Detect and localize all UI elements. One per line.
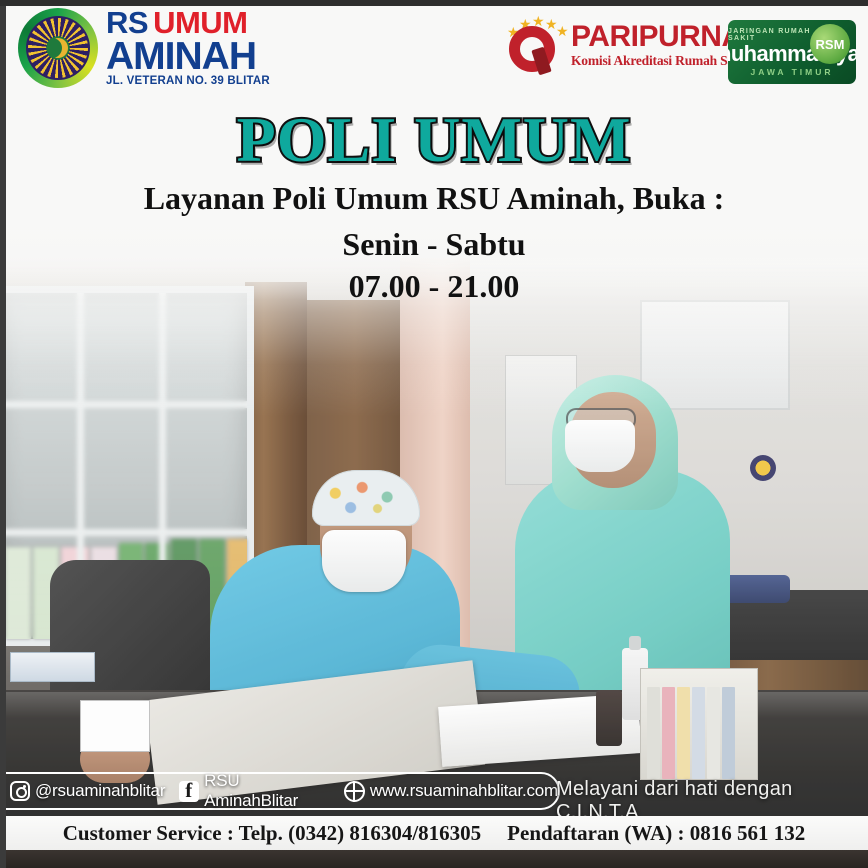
website-url: www.rsuaminahblitar.com xyxy=(370,781,558,801)
footer-bottom-strip xyxy=(0,850,868,868)
social-media-bar: @rsuaminahblitar RSU AminahBlitar www.rs… xyxy=(0,772,560,810)
accreditation-logo: ★ ★ ★ ★ ★ PARIPURNA Komisi Akreditasi Ru… xyxy=(505,14,749,76)
instagram-handle: @rsuaminahblitar xyxy=(35,781,165,801)
poster-canvas: RSUMUM AMINAH JL. VETERAN NO. 39 BLITAR … xyxy=(0,0,868,868)
facebook-handle: RSU AminahBlitar xyxy=(204,771,330,811)
logo-aminah: AMINAH xyxy=(106,39,270,75)
service-line-2-days: Senin - Sabtu xyxy=(0,226,868,263)
social-website[interactable]: www.rsuaminahblitar.com xyxy=(344,781,558,802)
registration-text: Pendaftaran (WA) : 0816 561 132 xyxy=(507,821,805,846)
top-edge-strip xyxy=(0,0,868,6)
instagram-icon xyxy=(10,781,30,801)
social-facebook[interactable]: RSU AminahBlitar xyxy=(179,771,330,811)
rsm-circle-badge: RSM xyxy=(810,24,850,64)
page-title: POLI UMUM xyxy=(0,103,868,177)
service-line-1: Layanan Poli Umum RSU Aminah, Buka : xyxy=(0,180,868,217)
globe-icon xyxy=(344,781,365,802)
social-instagram[interactable]: @rsuaminahblitar xyxy=(10,781,165,801)
muhammadiyah-sun-emblem-icon xyxy=(18,8,98,88)
facebook-icon xyxy=(179,781,199,802)
q-letter-icon: ★ ★ ★ ★ ★ xyxy=(505,14,567,76)
logo-address: JL. VETERAN NO. 39 BLITAR xyxy=(106,76,270,87)
emblem-core xyxy=(43,33,73,63)
accreditation-subtitle: Komisi Akreditasi Rumah Sakit xyxy=(571,54,749,68)
customer-service-text: Customer Service : Telp. (0342) 816304/8… xyxy=(63,821,481,846)
crescent-icon xyxy=(48,38,68,58)
network-badge: RSM JARINGAN RUMAH SAKIT muhammadiyah JA… xyxy=(728,20,856,84)
contact-footer: Customer Service : Telp. (0342) 816304/8… xyxy=(0,816,868,850)
service-line-3-hours: 07.00 - 21.00 xyxy=(0,268,868,305)
hospital-logo: RSUMUM AMINAH JL. VETERAN NO. 39 BLITAR xyxy=(18,8,270,88)
left-edge-strip xyxy=(0,0,6,868)
accreditation-title: PARIPURNA xyxy=(571,22,749,52)
network-badge-bottom: JAWA TIMUR xyxy=(750,67,833,77)
hospital-wordmark: RSUMUM AMINAH JL. VETERAN NO. 39 BLITAR xyxy=(106,9,270,87)
